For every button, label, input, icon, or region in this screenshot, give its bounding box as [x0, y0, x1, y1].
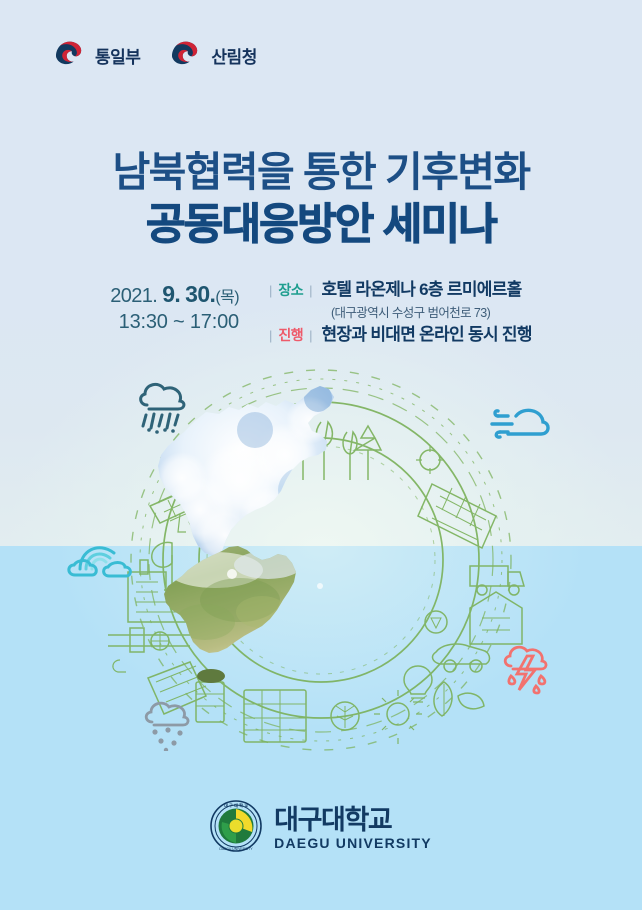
- event-time: 13:30 ~ 17:00: [110, 309, 239, 335]
- ring-recycle-icon: [425, 611, 447, 633]
- ring-house-icon: [470, 592, 522, 644]
- venue-value: 호텔 라온제나 6층 르미에르홀: [321, 279, 521, 301]
- snow-cloud-icon: [137, 695, 197, 756]
- venue-divider-right: |: [305, 283, 316, 300]
- taegeuk-emblem-icon: [52, 36, 86, 75]
- event-details: | 장소 | 호텔 라온제나 6층 르미에르홀 (대구광역시 수성구 범어천로 …: [255, 279, 532, 346]
- ring-train-icon: [418, 484, 496, 548]
- rainbow-cloud-icon: [62, 535, 136, 588]
- daegu-university-seal-icon: 대 구 대 학 교 DAEGU UNIVERSITY: [210, 800, 262, 857]
- svg-text:대 구 대 학 교: 대 구 대 학 교: [224, 802, 248, 809]
- south-korea-region: [150, 540, 320, 670]
- mode-divider-left: |: [265, 328, 276, 345]
- taegeuk-emblem-icon: [168, 36, 202, 75]
- poster-title: 남북협력을 통한 기후변화 공동대응방안 세미나: [0, 148, 642, 252]
- university-name-english: DAEGU UNIVERSITY: [274, 836, 432, 850]
- svg-text:DAEGU UNIVERSITY: DAEGU UNIVERSITY: [219, 847, 253, 851]
- event-date-month: 9.: [162, 281, 180, 307]
- government-logo-group: 통일부 산림청: [52, 36, 257, 75]
- mode-value: 현장과 비대면 온라인 동시 진행: [321, 324, 531, 346]
- event-datetime: 2021. 9. 30.(목) 13:30 ~ 17:00: [110, 279, 255, 336]
- venue-address: (대구광역시 수성구 범어천로 73): [331, 302, 532, 321]
- daegu-university-name-block: 대구대학교 DAEGU UNIVERSITY: [274, 807, 432, 850]
- mode-divider-right: |: [305, 328, 316, 345]
- ministry-of-unification-name: 통일부: [95, 43, 140, 68]
- university-name-korean: 대구대학교: [274, 807, 432, 834]
- event-info-block: 2021. 9. 30.(목) 13:30 ~ 17:00 | 장소 | 호텔 …: [0, 279, 642, 346]
- title-line-1: 남북협력을 통한 기후변화: [0, 148, 642, 196]
- ring-car-icon: [433, 644, 490, 672]
- event-mode-row: | 진행 | 현장과 비대면 온라인 동시 진행: [265, 324, 532, 346]
- korea-forest-service-name: 산림청: [211, 43, 256, 68]
- ring-gear-icon: [416, 446, 444, 474]
- wind-cloud-icon: [486, 404, 552, 457]
- venue-label: 장소: [276, 282, 305, 300]
- daegu-university-logo: 대 구 대 학 교 DAEGU UNIVERSITY 대구대학교 DAEGU U…: [0, 800, 642, 857]
- event-venue-row: | 장소 | 호텔 라온제나 6층 르미에르홀: [265, 279, 532, 301]
- ring-plant-icon: [331, 702, 359, 730]
- offshore-marker: [317, 583, 323, 589]
- venue-divider-left: |: [265, 283, 276, 300]
- rain-cloud-icon: [133, 378, 193, 441]
- mode-label: 진행: [276, 327, 305, 345]
- title-line-2: 공동대응방안 세미나: [0, 200, 642, 252]
- poster-root: 통일부 산림청 남북협력을 통한 기후변화 공동대응방안 세미나 2021. 9…: [0, 0, 642, 910]
- ring-leaf-icon: [434, 682, 484, 716]
- event-date-day: 30.: [185, 281, 215, 307]
- event-date-year: 2021.: [110, 285, 157, 307]
- event-date: 2021. 9. 30.(목): [110, 279, 239, 309]
- jeju-island: [197, 669, 225, 683]
- ministry-of-unification-logo: 통일부: [52, 36, 140, 75]
- event-date-dayofweek: (목): [215, 289, 239, 306]
- thunderstorm-icon: [497, 640, 555, 701]
- korea-forest-service-logo: 산림청: [168, 36, 256, 75]
